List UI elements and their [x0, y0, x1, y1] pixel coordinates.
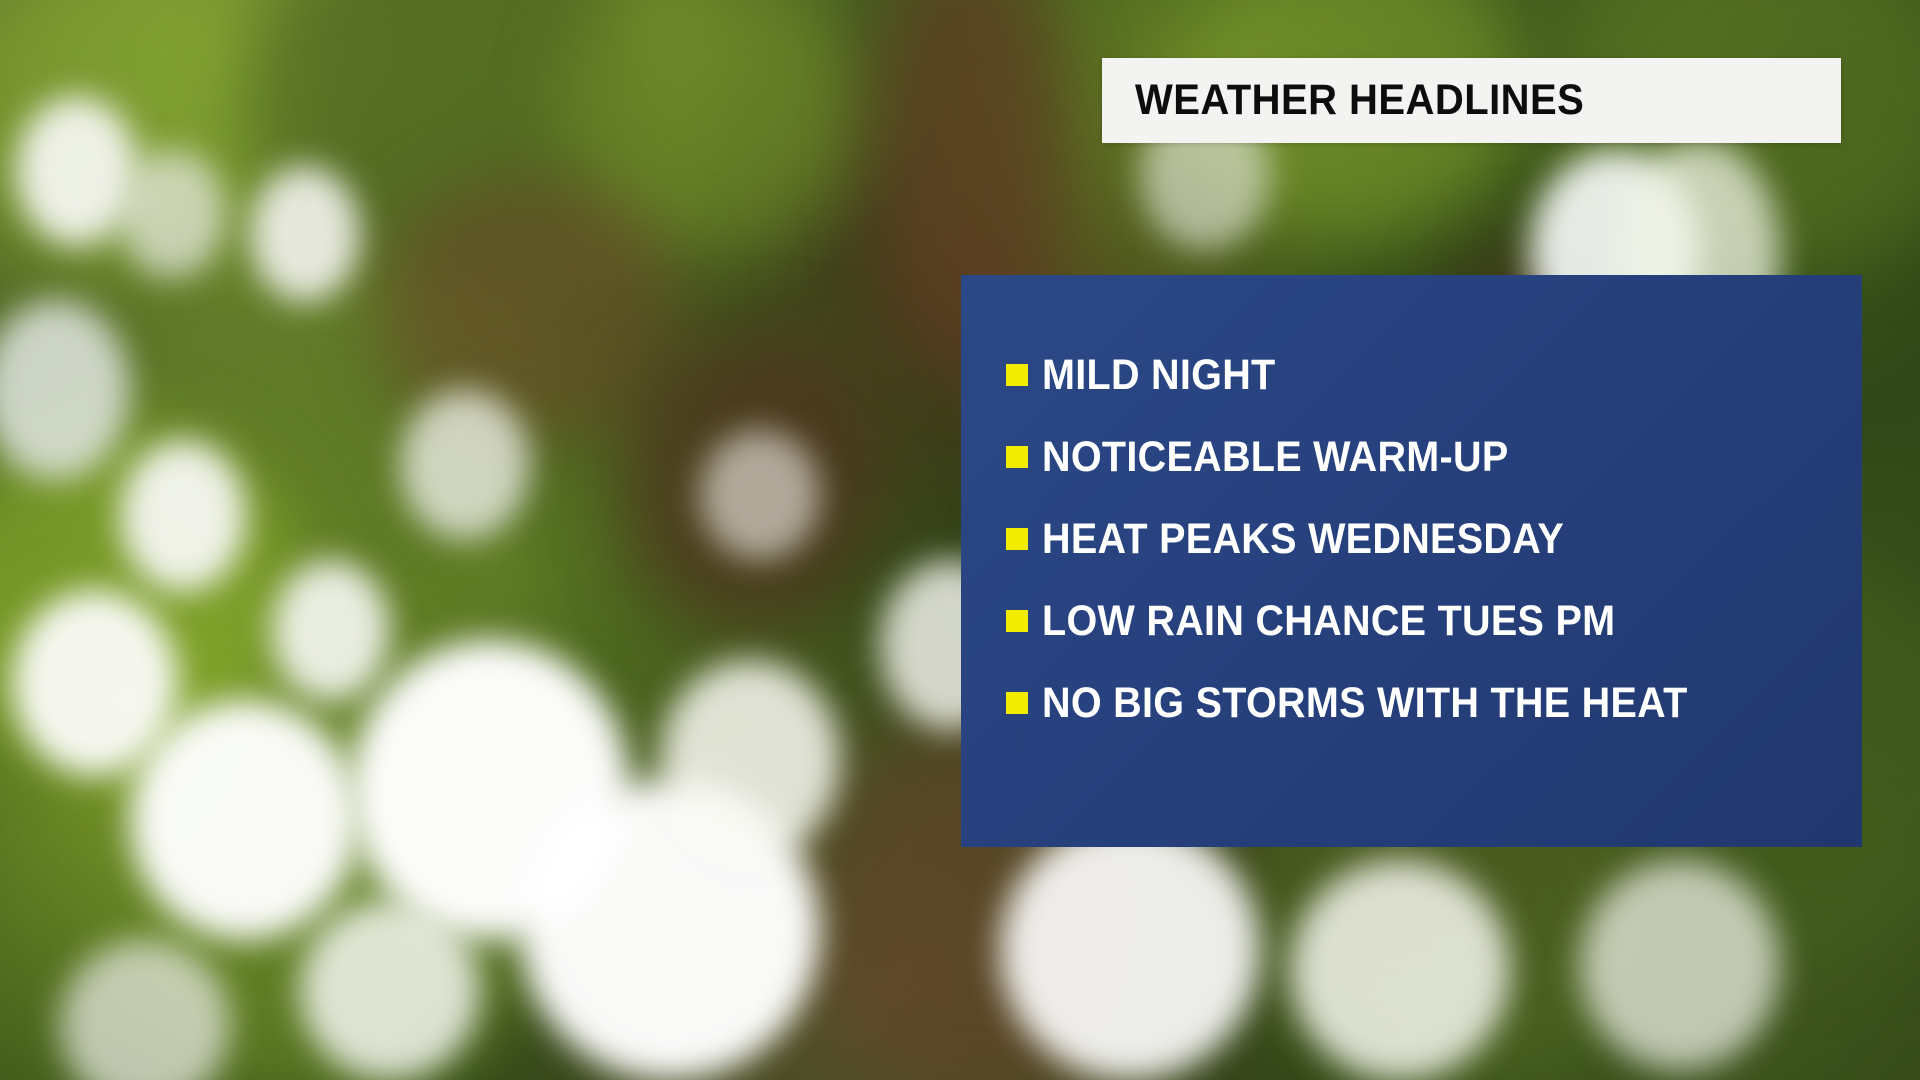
foliage-blob	[240, 0, 660, 280]
yellow-square-bullet-icon	[1006, 446, 1028, 468]
bokeh-highlight	[250, 166, 360, 302]
list-item: LOW RAIN CHANCE TUES PM	[961, 580, 1862, 662]
bokeh-highlight	[700, 430, 820, 560]
foliage-blob	[0, 0, 300, 260]
foliage-blob	[560, 0, 860, 250]
weather-graphic: WEATHER HEADLINES MILD NIGHT NOTICEABLE …	[0, 0, 1920, 1080]
list-item: NOTICEABLE WARM-UP	[961, 416, 1862, 498]
bokeh-highlight	[120, 440, 246, 592]
headline-item-label: NO BIG STORMS WITH THE HEAT	[1042, 682, 1688, 725]
weather-headlines-title-bar: WEATHER HEADLINES	[1102, 58, 1841, 143]
bokeh-highlight	[660, 660, 840, 860]
headline-item-label: MILD NIGHT	[1042, 354, 1276, 397]
bokeh-highlight	[520, 780, 820, 1080]
bokeh-highlight	[400, 390, 530, 540]
bokeh-highlight	[16, 96, 138, 246]
page-title: WEATHER HEADLINES	[1135, 76, 1584, 125]
list-item: NO BIG STORMS WITH THE HEAT	[961, 662, 1862, 744]
headline-item-label: HEAT PEAKS WEDNESDAY	[1042, 518, 1564, 561]
bokeh-highlight	[130, 700, 360, 940]
bokeh-highlight	[1000, 820, 1260, 1080]
bokeh-highlight	[1580, 860, 1780, 1070]
headline-item-label: LOW RAIN CHANCE TUES PM	[1042, 600, 1615, 643]
weather-headlines-panel: MILD NIGHT NOTICEABLE WARM-UP HEAT PEAKS…	[961, 275, 1862, 847]
foliage-blob	[120, 760, 540, 1080]
bokeh-highlight	[1290, 860, 1510, 1080]
bokeh-highlight	[300, 900, 480, 1080]
yellow-square-bullet-icon	[1006, 528, 1028, 550]
yellow-square-bullet-icon	[1006, 364, 1028, 386]
bokeh-highlight	[272, 560, 390, 702]
branch-blob	[380, 180, 680, 440]
bokeh-highlight	[60, 940, 230, 1080]
foliage-blob	[0, 420, 300, 760]
bokeh-highlight	[118, 150, 226, 278]
list-item: MILD NIGHT	[961, 334, 1862, 416]
bokeh-highlight	[12, 590, 178, 776]
bokeh-highlight	[0, 300, 130, 480]
list-item: HEAT PEAKS WEDNESDAY	[961, 498, 1862, 580]
headline-item-label: NOTICEABLE WARM-UP	[1042, 436, 1508, 479]
yellow-square-bullet-icon	[1006, 692, 1028, 714]
branch-blob	[620, 330, 880, 630]
bokeh-highlight	[350, 640, 630, 940]
yellow-square-bullet-icon	[1006, 610, 1028, 632]
